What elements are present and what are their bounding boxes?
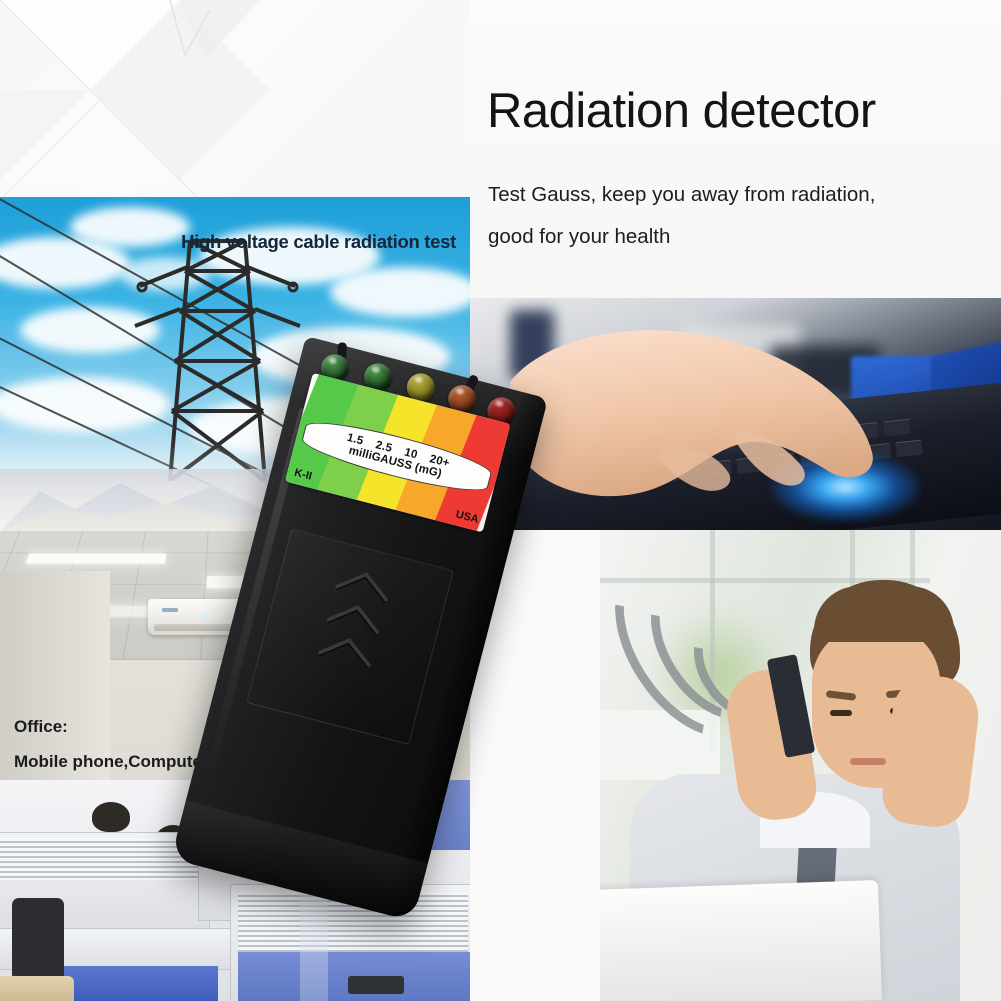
photo-stressed-phone-user: [600, 530, 1001, 1001]
label-office-line-2: Mobile phone,Computer: [14, 744, 209, 779]
desk: [0, 976, 74, 1001]
office-chair: [12, 898, 64, 978]
label-office-line-1: Office:: [14, 709, 209, 744]
laptop: [600, 880, 882, 1001]
label-high-voltage: High voltage cable radiation test: [181, 231, 456, 253]
emf-meter-device: 1.5 2.5 10 20+ milliGAUSS (mG) K-II USA: [298, 318, 608, 878]
battery-door: [246, 528, 454, 744]
label-office: Office: Mobile phone,Computer: [14, 709, 209, 779]
subtitle-line-2: good for your health: [488, 216, 988, 258]
page-title: Radiation detector: [487, 86, 876, 137]
person-head: [92, 802, 130, 832]
subtitle-line-1: Test Gauss, keep you away from radiation…: [488, 174, 988, 216]
page-subtitle: Test Gauss, keep you away from radiation…: [488, 174, 988, 258]
geometric-watermark-background: [0, 0, 470, 200]
product-marketing-image: Radiation detector Test Gauss, keep you …: [0, 0, 1001, 1001]
